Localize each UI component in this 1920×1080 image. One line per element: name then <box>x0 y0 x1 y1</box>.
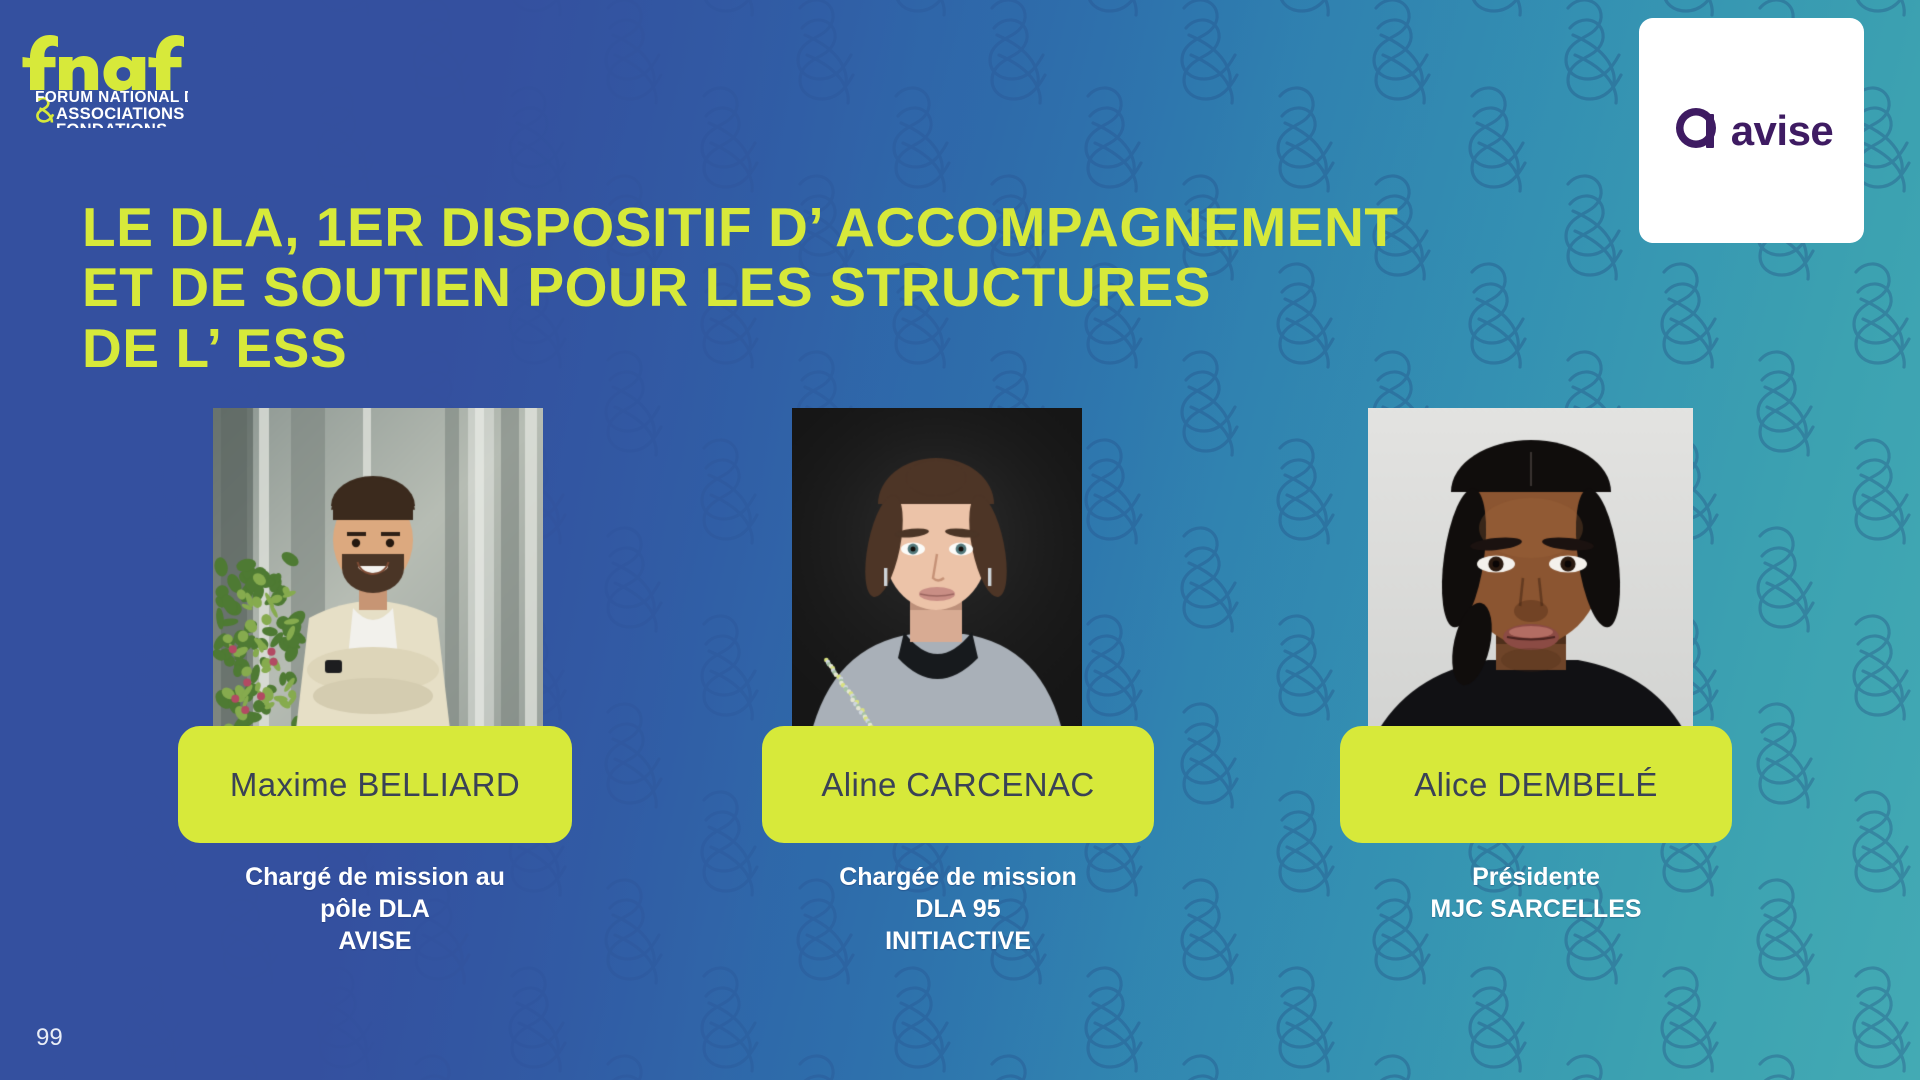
speaker-name: Maxime BELLIARD <box>230 766 520 804</box>
speaker-role-line-2: DLA 95 <box>762 893 1154 925</box>
speaker-role-line-1: Chargée de mission <box>762 861 1154 893</box>
speaker-role: Chargé de mission au pôle DLA AVISE <box>178 861 572 957</box>
slide-title: LE DLA, 1ER DISPOSITIF D’ ACCOMPAGNEMENT… <box>82 197 1642 379</box>
speaker-role-line-2: MJC SARCELLES <box>1340 893 1732 925</box>
fnaf-logo: FORUM NATIONAL DES ASSOCIATIONS FONDATIO… <box>18 16 188 128</box>
page-number: 99 <box>36 1024 63 1052</box>
speaker-role-line-1: Chargé de mission au <box>178 861 572 893</box>
speaker-card: Maxime BELLIARD Chargé de mission au pôl… <box>178 408 568 957</box>
speaker-name-badge: Aline CARCENAC <box>762 726 1154 843</box>
speaker-role-line-2: pôle DLA <box>178 893 572 925</box>
speaker-role-line-3: INITIACTIVE <box>762 925 1154 957</box>
speaker-name-badge: Alice DEMBELÉ <box>1340 726 1732 843</box>
svg-text:FONDATIONS: FONDATIONS <box>56 120 167 128</box>
avise-wordmark: avise <box>1731 110 1834 152</box>
speakers-row: Maxime BELLIARD Chargé de mission au pôl… <box>0 408 1920 1008</box>
slide-title-line-3: DE L’ ESS <box>82 318 1642 379</box>
speaker-card: Alice DEMBELÉ Présidente MJC SARCELLES <box>1340 408 1730 925</box>
slide-title-line-2: ET DE SOUTIEN POUR LES STRUCTURES <box>82 257 1642 318</box>
avise-logo-card: avise <box>1639 18 1864 243</box>
speaker-role-line-1: Présidente <box>1340 861 1732 893</box>
slide-title-line-1: LE DLA, 1ER DISPOSITIF D’ ACCOMPAGNEMENT <box>82 197 1642 258</box>
speaker-role: Chargée de mission DLA 95 INITIACTIVE <box>762 861 1154 957</box>
speaker-name: Aline CARCENAC <box>821 766 1094 804</box>
speaker-photo <box>213 408 543 738</box>
speaker-name: Alice DEMBELÉ <box>1414 766 1658 804</box>
speaker-role: Présidente MJC SARCELLES <box>1340 861 1732 925</box>
presentation-slide: FORUM NATIONAL DES ASSOCIATIONS FONDATIO… <box>0 0 1920 1080</box>
speaker-name-badge: Maxime BELLIARD <box>178 726 572 843</box>
speaker-photo <box>1368 408 1693 738</box>
speaker-card: Aline CARCENAC Chargée de mission DLA 95… <box>762 408 1152 957</box>
speaker-photo <box>792 408 1082 738</box>
speaker-role-line-3: AVISE <box>178 925 572 957</box>
avise-mark-icon <box>1670 102 1722 159</box>
